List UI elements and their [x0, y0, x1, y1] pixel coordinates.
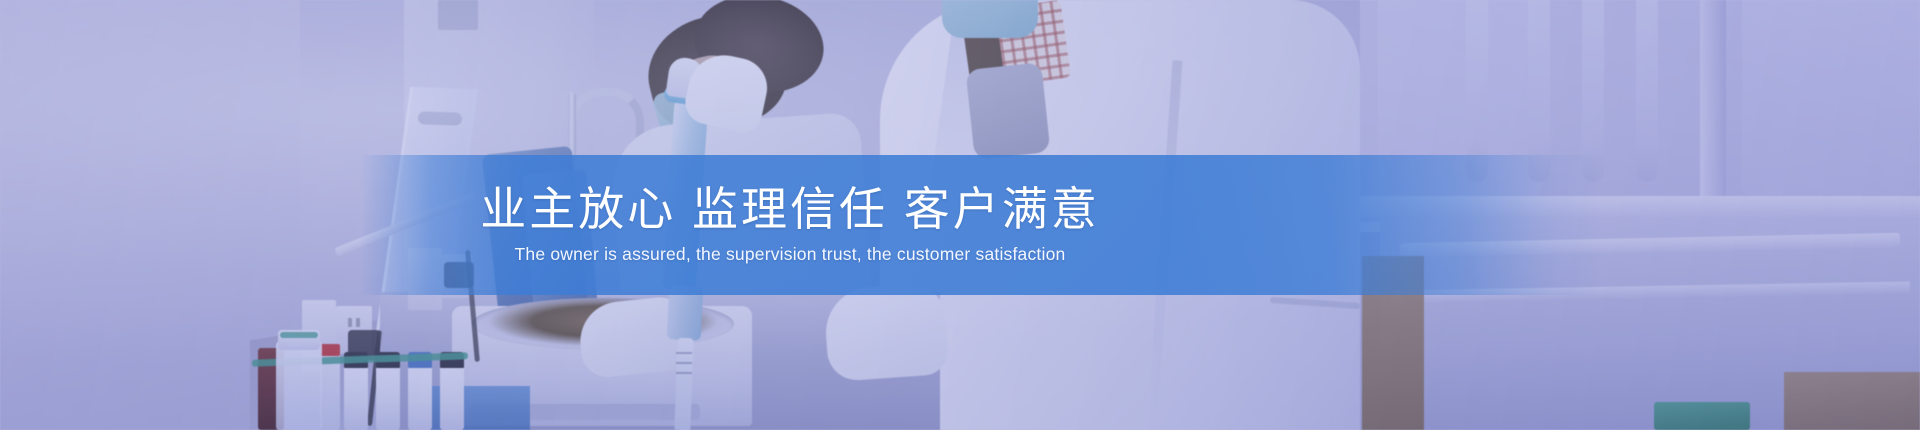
- banner-text-block: 业主放心 监理信任 客户满意 The owner is assured, the…: [0, 155, 1580, 295]
- banner-subheadline: The owner is assured, the supervision tr…: [515, 244, 1066, 265]
- banner-headline: 业主放心 监理信任 客户满意: [480, 185, 1100, 234]
- hero-banner: 业主放心 监理信任 客户满意 The owner is assured, the…: [0, 0, 1920, 430]
